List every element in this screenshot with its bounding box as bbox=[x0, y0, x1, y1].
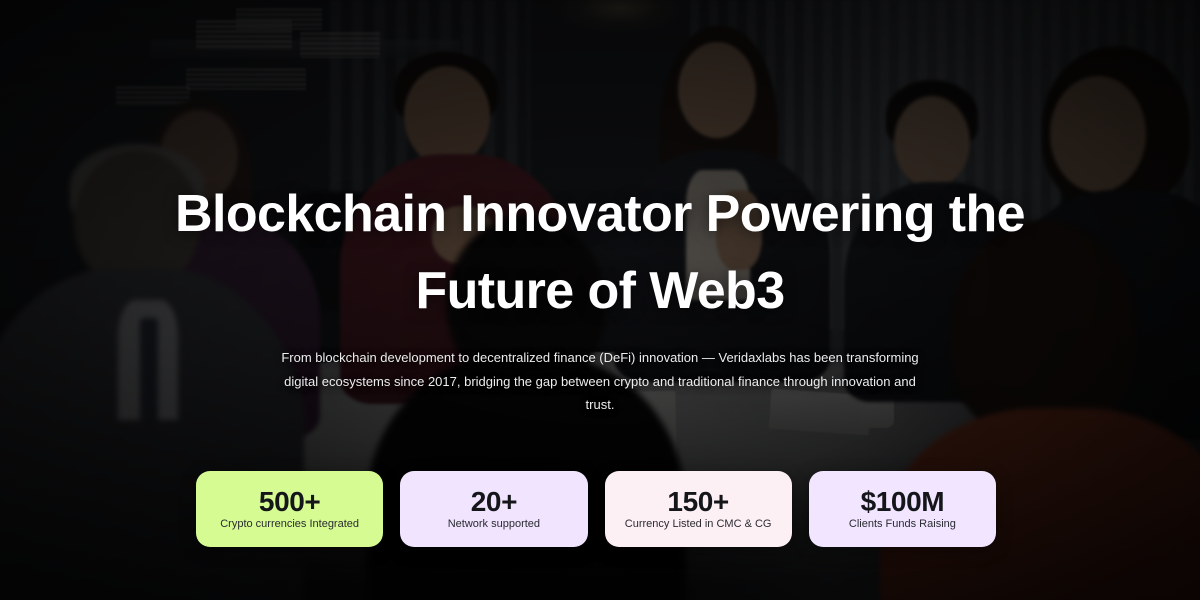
hero-subheading: From blockchain development to decentral… bbox=[280, 346, 920, 417]
hero-content: Blockchain Innovator Powering the Future… bbox=[0, 0, 1200, 600]
hero-section: Blockchain Innovator Powering the Future… bbox=[0, 0, 1200, 600]
page-title: Blockchain Innovator Powering the Future… bbox=[170, 176, 1030, 330]
